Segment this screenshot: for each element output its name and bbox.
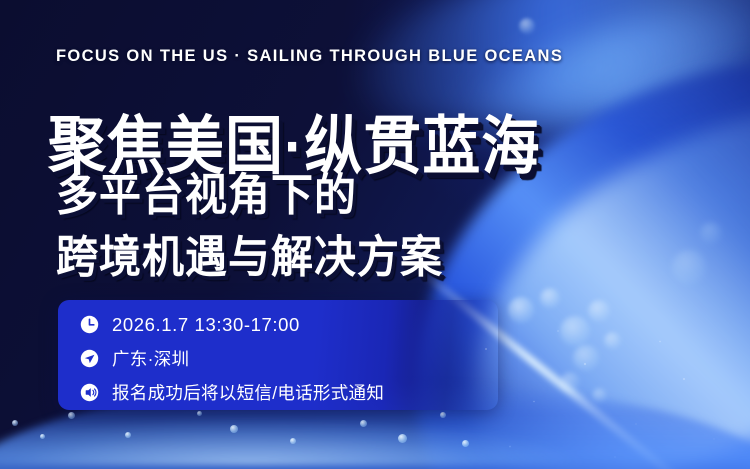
event-location-text: 广东·深圳 — [112, 346, 189, 371]
info-row-datetime: 2026.1.7 13:30-17:00 — [80, 310, 384, 339]
subtitle-line-1: 多平台视角下的 — [56, 159, 357, 224]
poster-content: FOCUS ON THE US · SAILING THROUGH BLUE O… — [0, 0, 750, 469]
event-datetime-text: 2026.1.7 13:30-17:00 — [112, 314, 300, 336]
info-row-location: 广东·深圳 — [80, 344, 384, 373]
subtitle-line-2: 跨境机遇与解决方案 — [56, 221, 443, 286]
location-arrow-icon — [80, 349, 99, 368]
clock-icon — [80, 315, 99, 334]
event-poster: FOCUS ON THE US · SAILING THROUGH BLUE O… — [0, 0, 750, 469]
event-notice-text: 报名成功后将以短信/电话形式通知 — [112, 380, 384, 405]
event-info-list: 2026.1.7 13:30-17:00 广东·深圳 — [80, 310, 384, 407]
eyebrow-tagline: FOCUS ON THE US · SAILING THROUGH BLUE O… — [56, 47, 563, 66]
speaker-icon — [80, 383, 99, 402]
info-row-notice: 报名成功后将以短信/电话形式通知 — [80, 378, 384, 407]
event-info-panel: 2026.1.7 13:30-17:00 广东·深圳 — [58, 300, 498, 410]
